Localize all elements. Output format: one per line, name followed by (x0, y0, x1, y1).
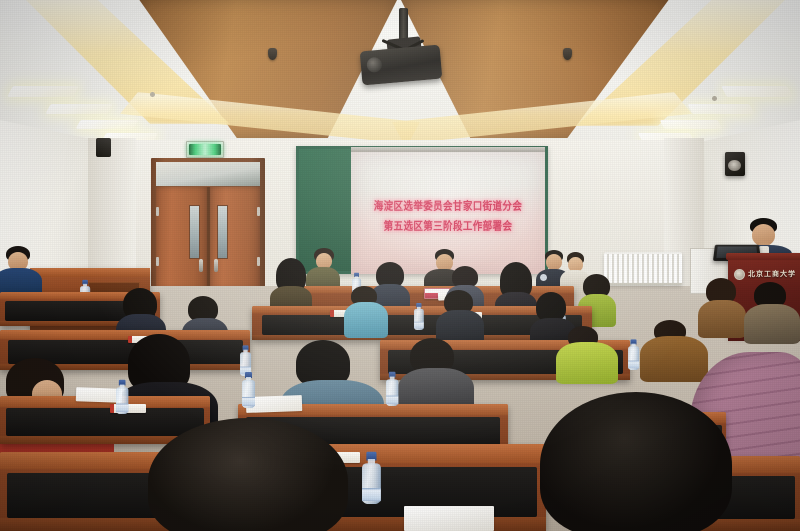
door-glass-panel (189, 205, 200, 259)
slide-title-line-2: 第五选区第三阶段工作部署会 (351, 217, 545, 233)
bottle-body (116, 387, 128, 414)
document-sheet (404, 506, 494, 531)
attendee-foreground-left (148, 418, 348, 531)
ceiling-lamp (45, 104, 112, 114)
bottle-body (628, 346, 639, 370)
door-transom-window (156, 162, 260, 186)
attendee-torso (556, 342, 618, 384)
slide-title-line-1: 海淀区选举委员会甘家口街道分会 (351, 197, 545, 213)
attendee-green-jacket (556, 326, 616, 382)
meeting-room-photo: EXIT 海淀区选举委员会甘家口街道分会 第五选区第三阶段工作部署会 (0, 0, 800, 531)
bottle-label (116, 404, 128, 413)
sprinkler-icon (150, 92, 155, 97)
projector-lens-icon (366, 57, 382, 73)
ceiling-speaker-icon (563, 48, 572, 60)
water-bottle (242, 372, 255, 408)
door-leaf-left[interactable] (156, 187, 207, 289)
podium-top (726, 253, 800, 260)
ceiling-lamp (687, 104, 754, 114)
bottle-body (414, 309, 424, 330)
water-bottle (414, 303, 424, 330)
attendee-row2-right (744, 282, 796, 342)
door-handle-icon[interactable] (199, 259, 203, 272)
ceiling-lamp (660, 120, 723, 129)
water-bottle (386, 372, 398, 406)
attendee-torso (744, 304, 800, 344)
water-bottle (116, 380, 128, 414)
bottle-body (362, 463, 381, 504)
attendee-torso (344, 302, 388, 338)
door-handle-icon[interactable] (214, 259, 218, 272)
door-leaves[interactable] (156, 187, 260, 289)
entrance-door[interactable] (151, 158, 265, 293)
projector-body (360, 45, 443, 86)
water-bottle (362, 452, 381, 504)
ceiling-lamp (76, 120, 139, 129)
door-leaf-right[interactable] (210, 187, 261, 289)
ceiling-lamp (7, 86, 79, 97)
door-hinge-icon (156, 257, 159, 266)
bottle-label (414, 322, 424, 329)
exit-sign-label: EXIT (189, 144, 221, 155)
ceiling-projector (357, 8, 445, 86)
speaker-cone-icon (728, 160, 741, 171)
bottle-body (242, 380, 255, 408)
door-hinge-icon (257, 257, 260, 266)
bottle-label (386, 396, 398, 405)
bottle-label (242, 397, 255, 406)
bottle-body (386, 379, 398, 406)
door-glass-panel (217, 205, 228, 259)
ceiling-speaker-icon (268, 48, 277, 60)
ceiling (0, 0, 800, 145)
door-hinge-icon (257, 207, 260, 216)
attendee-hair (148, 418, 348, 531)
podium-institution-name: 北京工商大学 (748, 269, 796, 279)
water-bottle (628, 339, 639, 370)
desk-surface (30, 268, 150, 277)
uniform-badge-icon (540, 274, 547, 281)
bottle-label (362, 488, 381, 501)
attendee-foreground-right (540, 392, 730, 531)
sprinkler-icon (712, 96, 717, 101)
attendee-hair (540, 392, 732, 531)
door-hinge-icon (156, 207, 159, 216)
attendee-row3-cyan (344, 286, 386, 336)
wall-speaker-icon (96, 138, 111, 157)
ceiling-lamp (721, 86, 793, 97)
emergency-exit-sign: EXIT (186, 141, 224, 158)
wall-speaker-icon (725, 152, 745, 176)
bottle-label (628, 361, 639, 369)
attendee-left-edge (0, 246, 46, 298)
